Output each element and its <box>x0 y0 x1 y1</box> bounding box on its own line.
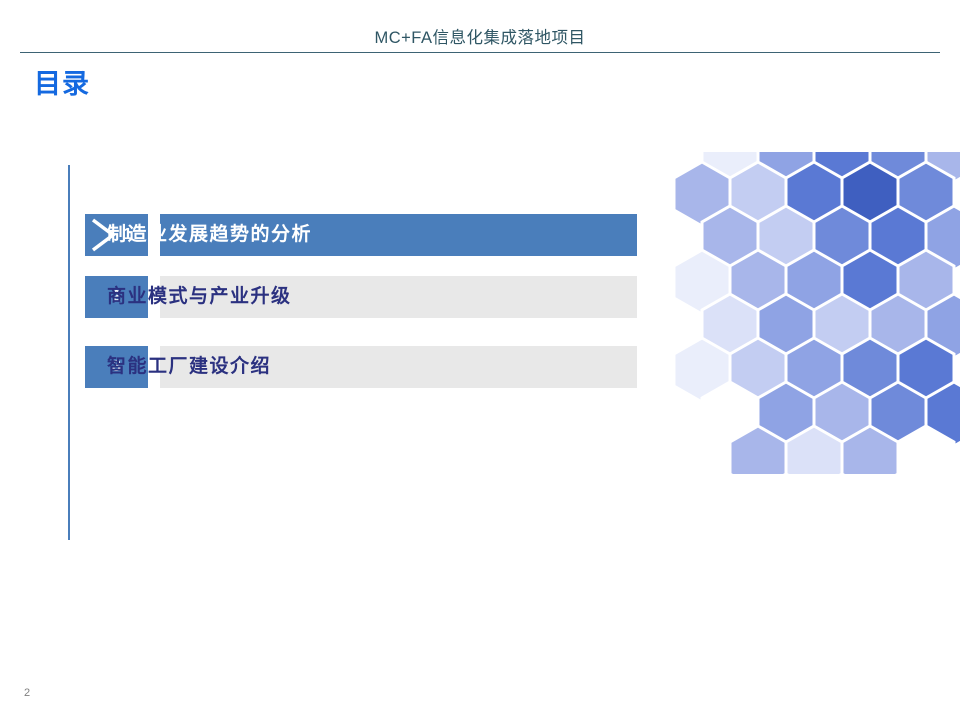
agenda-item-2-label: 商业模式与产业升级 <box>107 276 292 318</box>
hexagon-honeycomb-decoration <box>670 152 960 474</box>
agenda-vertical-rule <box>68 165 70 540</box>
slide-header-title: MC+FA信息化集成落地项目 <box>0 28 960 48</box>
hexagon-pattern-svg <box>670 152 960 474</box>
page-number: 2 <box>24 686 30 700</box>
agenda-item-3-label: 智能工厂建设介绍 <box>107 346 271 388</box>
slide-canvas: MC+FA信息化集成落地项目 目录 <box>0 0 960 720</box>
agenda-item-1-label: 制造业发展趋势的分析 <box>107 214 312 256</box>
header-divider-rule <box>20 52 940 53</box>
page-title: 目录 <box>34 67 90 101</box>
